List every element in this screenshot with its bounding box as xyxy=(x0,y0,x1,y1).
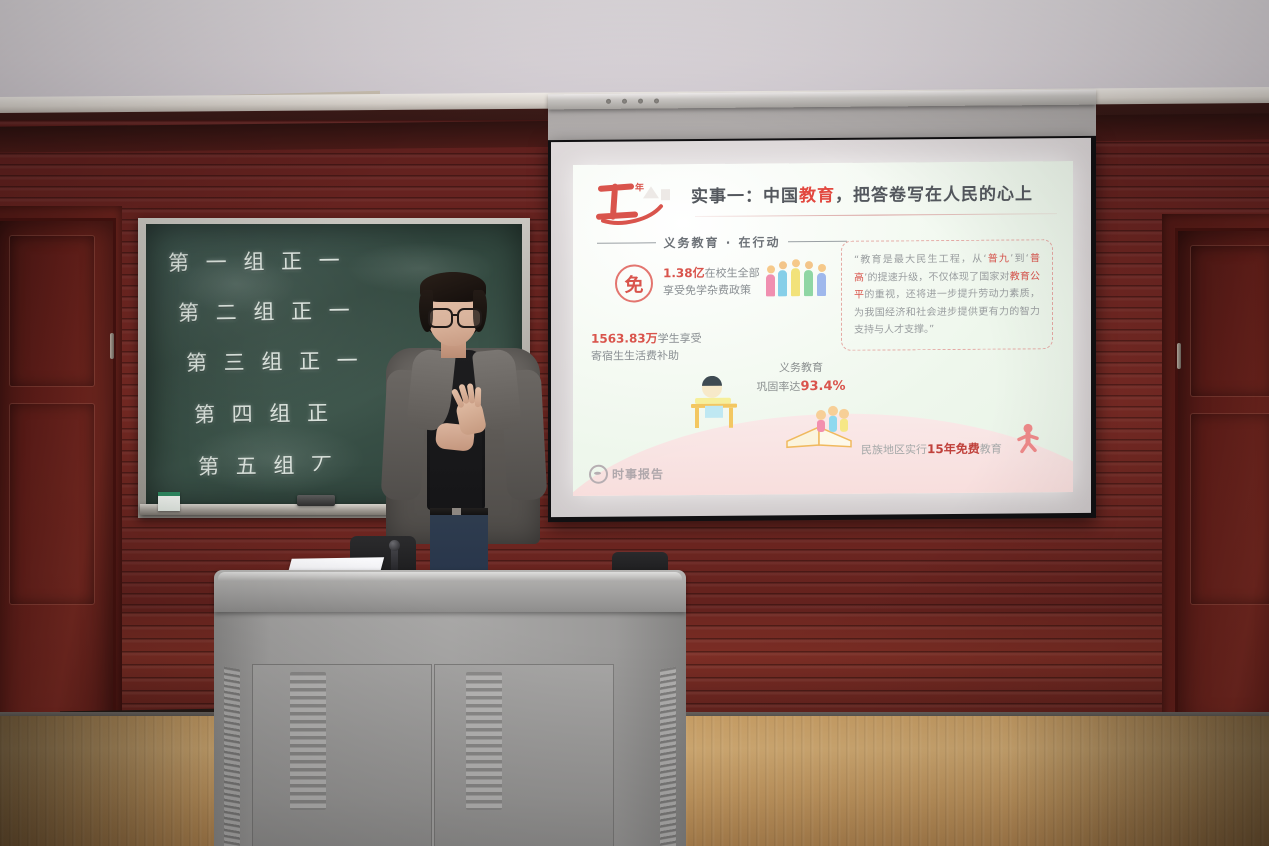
floor-shadow-right xyxy=(1009,716,1269,846)
stat1-number: 1.38亿 xyxy=(663,266,705,280)
floor-shadow-left xyxy=(0,716,230,846)
publisher-watermark: 时事报告 xyxy=(589,464,664,484)
blackboard-line-2: 第 二 组 正 一 xyxy=(178,295,355,327)
door-right[interactable] xyxy=(1175,228,1269,734)
lectern-vent-right xyxy=(466,672,502,810)
rule-right xyxy=(788,241,847,242)
glasses-lens-right xyxy=(457,308,482,328)
children-illustration xyxy=(765,259,837,306)
stat2-number: 1563.83万 xyxy=(591,331,658,346)
bottom-note-suffix: 教育 xyxy=(980,443,1002,456)
slide-title-prefix: 实事一：中国 xyxy=(691,186,799,207)
door-panel xyxy=(9,403,95,605)
blackboard-line-3: 第 三 组 正 一 xyxy=(186,345,363,377)
lectern-side-vent-right xyxy=(660,667,676,846)
student-at-desk-illustration xyxy=(685,376,743,432)
stat-consolidation-rate: 义务教育 巩固率达93.4% xyxy=(741,359,861,398)
quote-part4: 的重视，还将进一步提升劳动力素质，为我国经济和社会进步提供更有力的智力支持与人才… xyxy=(854,288,1040,335)
quote-hl1: 普九 xyxy=(987,254,1011,265)
door-handle-icon[interactable] xyxy=(110,333,114,359)
lectern-top xyxy=(214,570,686,612)
classroom-scene: 第 一 组 正 一 第 二 组 正 一 第 三 组 正 一 第 四 组 正 第 … xyxy=(0,0,1269,846)
bottom-note-prefix: 民族地区实行 xyxy=(861,443,927,457)
blackboard-line-5: 第 五 组 丆 xyxy=(198,449,337,481)
slide-quote-box: “教育是最大民生工程，从‘普九’到‘普高’的提速升级，不仅体现了国家对教育公平的… xyxy=(841,239,1053,351)
bottom-note-number: 15年免费 xyxy=(927,442,980,456)
quote-part3: ’的提速升级，不仅体现了国家对 xyxy=(864,271,1010,283)
stat2-text-a: 学生享受 xyxy=(658,332,702,345)
lectern-side-vent-left xyxy=(224,667,240,846)
lectern[interactable] xyxy=(214,570,686,846)
presentation-slide: 年 实事一：中国教育，把答卷写在人民的心上 义务教育 · 在行动 免 1.38亿… xyxy=(573,161,1073,496)
door-panel xyxy=(1190,413,1269,605)
stat3-prefix: 巩固率达 xyxy=(756,380,800,393)
glasses-bridge xyxy=(451,314,457,316)
slide-section-heading: 义务教育 · 在行动 xyxy=(597,233,847,252)
door-handle-icon[interactable] xyxy=(1177,343,1181,369)
slide-title-highlight: 教育 xyxy=(799,186,835,206)
open-book-illustration xyxy=(781,401,861,450)
glasses-lens-left xyxy=(428,308,453,328)
lectern-body xyxy=(214,610,686,846)
free-tuition-badge: 免 xyxy=(615,264,653,302)
lectern-top-highlight xyxy=(218,572,682,581)
five-years-logo-icon: 年 xyxy=(591,176,677,229)
presenter-belt-buckle xyxy=(452,508,461,515)
rule-left xyxy=(597,242,656,243)
chalk-box[interactable] xyxy=(158,492,180,511)
blackboard-line-4: 第 四 组 正 xyxy=(194,397,333,429)
lectern-cabinet-door-right[interactable] xyxy=(434,664,614,846)
stat3-number: 93.4% xyxy=(800,378,845,393)
lectern-vent-left xyxy=(290,672,326,810)
blackboard-eraser[interactable] xyxy=(297,495,335,506)
slide-title-suffix: ，把答卷写在人民的心上 xyxy=(835,184,1033,206)
quote-part1: “教育是最大民生工程，从‘ xyxy=(854,254,987,266)
stat2-text-b: 寄宿生生活费补助 xyxy=(591,349,679,363)
slide-title: 实事一：中国教育，把答卷写在人民的心上 xyxy=(691,179,1061,207)
door-panel xyxy=(9,235,95,387)
svg-text:年: 年 xyxy=(635,181,644,193)
quote-part2: ’到‘ xyxy=(1010,253,1029,264)
running-figure-icon xyxy=(1015,423,1041,453)
slide-bottom-note: 民族地区实行15年免费教育 xyxy=(861,440,1002,458)
stat1-text-b: 享受免学杂费政策 xyxy=(663,283,751,297)
section-heading-label: 义务教育 · 在行动 xyxy=(664,233,781,251)
eye-logo-icon xyxy=(589,465,608,484)
door-left[interactable] xyxy=(0,218,116,744)
microphone-head-icon xyxy=(389,540,400,551)
projection-screen[interactable]: 年 实事一：中国教育，把答卷写在人民的心上 义务教育 · 在行动 免 1.38亿… xyxy=(551,138,1091,517)
door-panel xyxy=(1190,245,1269,397)
stat3-label: 义务教育 xyxy=(779,361,823,374)
lectern-cabinet-door-left[interactable] xyxy=(252,664,432,846)
stat1-text-a: 在校生全部 xyxy=(705,266,760,279)
watermark-label: 时事报告 xyxy=(612,465,664,482)
blackboard-line-1: 第 一 组 正 一 xyxy=(168,245,345,277)
slide-title-rule xyxy=(695,213,1057,217)
